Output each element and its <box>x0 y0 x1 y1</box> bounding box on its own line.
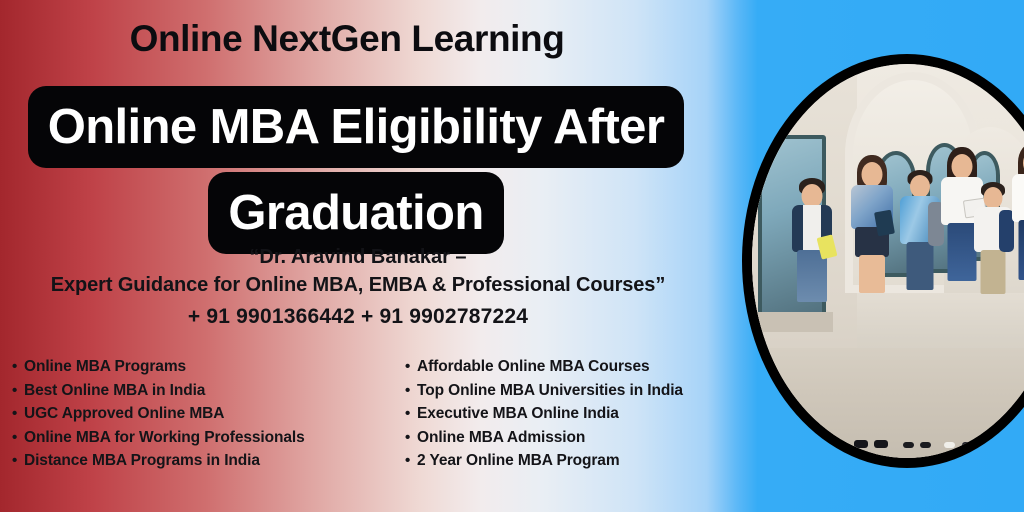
list-item[interactable]: •Distance MBA Programs in India <box>12 449 405 473</box>
phone-numbers[interactable]: + 91 9901366442 + 91 9902787224 <box>0 302 716 332</box>
bullet-list-left: •Online MBA Programs•Best Online MBA in … <box>12 355 405 473</box>
list-item-label: Distance MBA Programs in India <box>24 449 260 473</box>
list-item[interactable]: •Online MBA for Working Professionals <box>12 426 405 450</box>
keyword-column-right: •Affordable Online MBA Courses•Top Onlin… <box>405 355 712 473</box>
list-item[interactable]: •Best Online MBA in India <box>12 379 405 403</box>
list-item[interactable]: •Affordable Online MBA Courses <box>405 355 712 379</box>
page-title: Online NextGen Learning <box>0 18 1024 60</box>
headline-line-1: Online MBA Eligibility After <box>28 86 685 168</box>
list-item-label: Best Online MBA in India <box>24 379 205 403</box>
bullet-icon: • <box>405 430 417 445</box>
bullet-icon: • <box>12 383 24 398</box>
bullet-icon: • <box>405 406 417 421</box>
list-item-label: UGC Approved Online MBA <box>24 402 224 426</box>
list-item-label: Online MBA for Working Professionals <box>24 426 305 450</box>
promo-banner: Online NextGen Learning Online MBA Eligi… <box>0 0 1024 512</box>
list-item[interactable]: •2 Year Online MBA Program <box>405 449 712 473</box>
bullet-icon: • <box>405 383 417 398</box>
keyword-column-left: •Online MBA Programs•Best Online MBA in … <box>12 355 405 473</box>
student-photo-oval <box>742 54 1024 468</box>
student-figure <box>848 155 896 447</box>
keyword-columns: •Online MBA Programs•Best Online MBA in … <box>12 355 712 473</box>
student-figure <box>1009 143 1024 446</box>
headline-block: Online MBA Eligibility After Graduation <box>0 86 712 254</box>
list-item-label: 2 Year Online MBA Program <box>417 449 620 473</box>
headline-line-2: Graduation <box>208 172 503 254</box>
bullet-icon: • <box>12 453 24 468</box>
quote-line-1: “Dr. Aravind Banakar – <box>0 243 716 271</box>
student-figure <box>972 182 1014 446</box>
list-item[interactable]: •Online MBA Programs <box>12 355 405 379</box>
list-item[interactable]: •UGC Approved Online MBA <box>12 402 405 426</box>
bullet-icon: • <box>12 406 24 421</box>
list-item-label: Affordable Online MBA Courses <box>417 355 650 379</box>
quote-line-2: Expert Guidance for Online MBA, EMBA & P… <box>0 271 716 299</box>
bullet-icon: • <box>405 453 417 468</box>
list-item-label: Online MBA Programs <box>24 355 186 379</box>
student-photo <box>752 64 1024 458</box>
bullet-icon: • <box>12 359 24 374</box>
list-item[interactable]: •Executive MBA Online India <box>405 402 712 426</box>
quote-block: “Dr. Aravind Banakar – Expert Guidance f… <box>0 243 716 332</box>
list-item[interactable]: •Top Online MBA Universities in India <box>405 379 712 403</box>
list-item-label: Online MBA Admission <box>417 426 585 450</box>
list-item-label: Executive MBA Online India <box>417 402 619 426</box>
bullet-icon: • <box>12 430 24 445</box>
bullet-icon: • <box>405 359 417 374</box>
bullet-list-right: •Affordable Online MBA Courses•Top Onlin… <box>405 355 712 473</box>
list-item[interactable]: •Online MBA Admission <box>405 426 712 450</box>
list-item-label: Top Online MBA Universities in India <box>417 379 683 403</box>
student-figure <box>898 170 942 446</box>
student-figure <box>789 178 835 446</box>
campus-corridor-illustration <box>752 64 1024 458</box>
